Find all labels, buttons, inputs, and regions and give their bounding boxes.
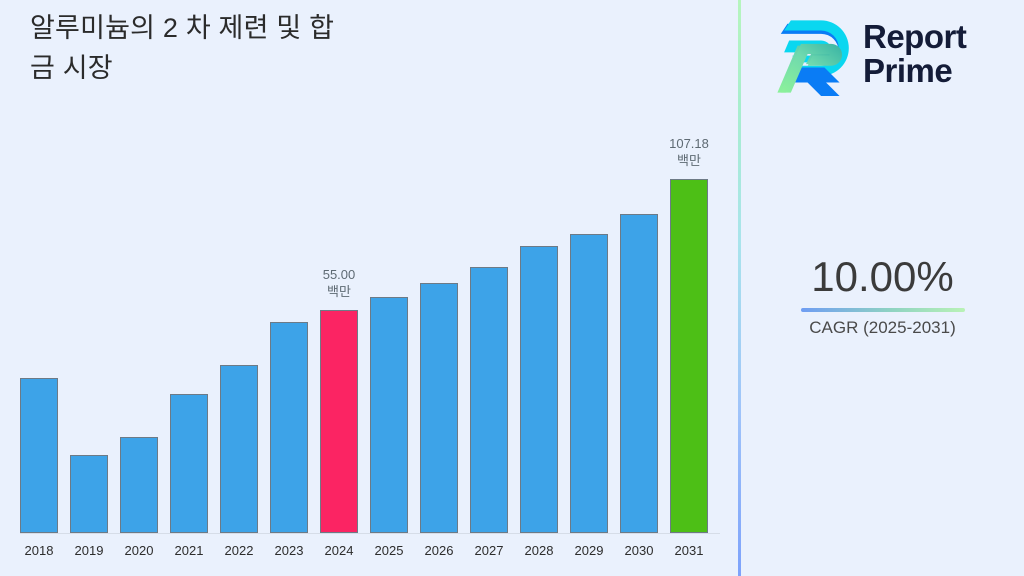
x-tick-2024: 2024: [314, 543, 364, 558]
x-tick-2028: 2028: [514, 543, 564, 558]
x-tick-2029: 2029: [564, 543, 614, 558]
chart-panel: 알루미늄의 2 차 제련 및 합 금 시장 55.00 백만107.18 백만 …: [0, 0, 738, 576]
x-tick-2027: 2027: [464, 543, 514, 558]
bar-2021[interactable]: [170, 394, 208, 533]
branding-panel: Report Prime 10.00% CAGR (2025-2031): [741, 0, 1024, 576]
bar-2025[interactable]: [370, 297, 408, 533]
bar-value-label-2024: 55.00 백만: [294, 266, 384, 300]
x-tick-2021: 2021: [164, 543, 214, 558]
bar-2022[interactable]: [220, 365, 258, 533]
x-tick-2025: 2025: [364, 543, 414, 558]
bar-2029[interactable]: [570, 234, 608, 533]
x-tick-2030: 2030: [614, 543, 664, 558]
slide-canvas: 알루미늄의 2 차 제련 및 합 금 시장 55.00 백만107.18 백만 …: [0, 0, 1024, 576]
x-axis-line: [20, 533, 720, 534]
bar-2024[interactable]: [320, 310, 358, 533]
brand-wordmark-line2: Prime: [863, 54, 966, 88]
x-tick-2026: 2026: [414, 543, 464, 558]
cagr-value: 10.00%: [741, 252, 1024, 302]
bar-2030[interactable]: [620, 214, 658, 533]
x-tick-2023: 2023: [264, 543, 314, 558]
x-tick-2031: 2031: [664, 543, 714, 558]
brand-wordmark-line1: Report: [863, 20, 966, 54]
x-tick-2020: 2020: [114, 543, 164, 558]
bar-2027[interactable]: [470, 267, 508, 533]
bar-2028[interactable]: [520, 246, 558, 533]
bar-2031[interactable]: [670, 179, 708, 533]
cagr-divider-rule: [801, 308, 965, 312]
x-tick-2022: 2022: [214, 543, 264, 558]
bar-2023[interactable]: [270, 322, 308, 533]
bar-2026[interactable]: [420, 283, 458, 533]
brand-wordmark: Report Prime: [863, 20, 966, 88]
bar-value-label-2031: 107.18 백만: [644, 135, 734, 169]
report-prime-logo-mark: [769, 12, 853, 96]
x-tick-2018: 2018: [14, 543, 64, 558]
bar-2020[interactable]: [120, 437, 158, 533]
cagr-caption: CAGR (2025-2031): [741, 318, 1024, 338]
bar-2019[interactable]: [70, 455, 108, 533]
bar-2018[interactable]: [20, 378, 58, 533]
bar-chart-plot-area: 55.00 백만107.18 백만 2018201920202021202220…: [0, 0, 738, 576]
brand-logo: Report Prime: [769, 8, 1019, 100]
x-tick-2019: 2019: [64, 543, 114, 558]
cagr-block: 10.00% CAGR (2025-2031): [741, 252, 1024, 338]
